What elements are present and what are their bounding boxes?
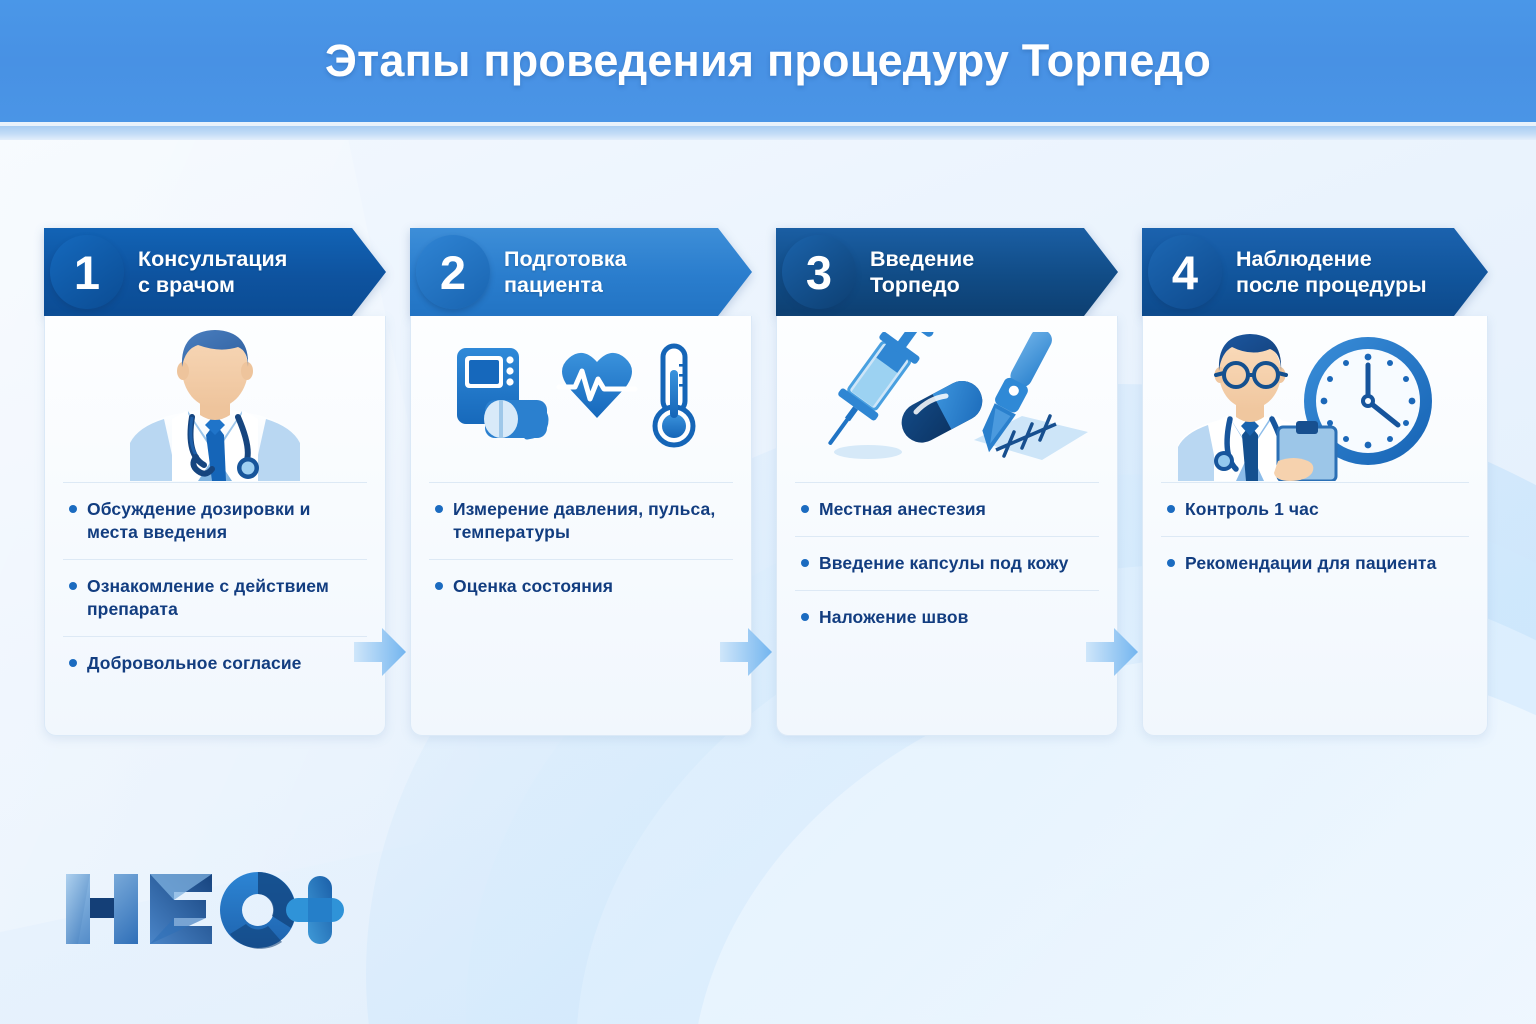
bullet-text: Наложение швов: [819, 606, 969, 629]
list-item: Измерение давления, пульса, температуры: [429, 482, 733, 559]
bullet-dot-icon: [1167, 559, 1175, 567]
vitals-monitor-heart-thermometer-icon: [445, 342, 717, 462]
arrow-step2-to-step3: [718, 626, 774, 678]
step-card-2[interactable]: 2 Подготовка пациента: [410, 228, 752, 736]
step-3-title-line1: Введение: [870, 247, 974, 271]
step-3-bullets: Местная анестезия Введение капсулы под к…: [777, 482, 1117, 644]
bullet-text: Измерение давления, пульса, температуры: [453, 498, 729, 544]
step-2-title-line1: Подготовка: [504, 247, 627, 271]
bullet-dot-icon: [435, 505, 443, 513]
step-2-body: Измерение давления, пульса, температуры …: [410, 316, 752, 736]
bullet-dot-icon: [435, 582, 443, 590]
bullet-text: Введение капсулы под кожу: [819, 552, 1069, 575]
list-item: Введение капсулы под кожу: [795, 536, 1099, 590]
list-item: Контроль 1 час: [1161, 482, 1469, 536]
step-4-title-line2: после процедуры: [1236, 272, 1427, 298]
list-item: Добровольное согласие: [63, 636, 367, 690]
bullet-text: Местная анестезия: [819, 498, 986, 521]
list-item: Обсуждение дозировки и места введения: [63, 482, 367, 559]
step-card-3[interactable]: 3 Введение Торпедо: [776, 228, 1118, 736]
list-item: Рекомендации для пациента: [1161, 536, 1469, 590]
list-item: Ознакомление с действием препарата: [63, 559, 367, 636]
doctor-stethoscope-icon: [100, 323, 330, 481]
doctor-clipboard-clock-icon: [1172, 323, 1458, 481]
step-1-title: Консультация с врачом: [138, 246, 287, 298]
arrow-step3-to-step4: [1084, 626, 1140, 678]
step-2-bullets: Измерение давления, пульса, температуры …: [411, 482, 751, 613]
page-title: Этапы проведения процедуру Торпедо: [325, 35, 1211, 87]
list-item: Оценка состояния: [429, 559, 733, 613]
step-2-banner: 2 Подготовка пациента: [410, 228, 752, 316]
bullet-dot-icon: [801, 559, 809, 567]
bullet-text: Оценка состояния: [453, 575, 613, 598]
step-4-bullets: Контроль 1 час Рекомендации для пациента: [1143, 482, 1487, 590]
brand-logo[interactable]: [62, 868, 344, 955]
step-card-4[interactable]: 4 Наблюдение после процедуры: [1142, 228, 1488, 736]
step-1-banner: 1 Консультация с врачом: [44, 228, 386, 316]
arrow-step1-to-step2: [352, 626, 408, 678]
bullet-dot-icon: [801, 613, 809, 621]
step-1-title-line2: с врачом: [138, 272, 287, 298]
step-2-illustration: [411, 316, 751, 482]
bullet-dot-icon: [69, 659, 77, 667]
step-3-body: Местная анестезия Введение капсулы под к…: [776, 316, 1118, 736]
step-3-banner: 3 Введение Торпедо: [776, 228, 1118, 316]
arrow-right-icon: [1084, 626, 1140, 678]
bullet-text: Контроль 1 час: [1185, 498, 1319, 521]
neo-plus-logo-icon: [62, 868, 344, 950]
bullet-text: Ознакомление с действием препарата: [87, 575, 363, 621]
steps-row: 1 Консультация с врачом: [0, 228, 1536, 748]
step-4-number-badge: 4: [1148, 235, 1222, 309]
step-4-illustration: [1143, 316, 1487, 482]
step-3-number-badge: 3: [782, 235, 856, 309]
step-4-banner: 4 Наблюдение после процедуры: [1142, 228, 1488, 316]
step-4-title-line1: Наблюдение: [1236, 247, 1372, 271]
list-item: Наложение швов: [795, 590, 1099, 644]
syringe-capsule-scalpel-sutures-icon: [806, 332, 1088, 472]
step-1-illustration: [45, 316, 385, 482]
step-2-title: Подготовка пациента: [504, 246, 627, 298]
bullet-text: Обсуждение дозировки и места введения: [87, 498, 363, 544]
header-divider-blue: [0, 126, 1536, 140]
step-2-title-line2: пациента: [504, 272, 627, 298]
bullet-dot-icon: [69, 505, 77, 513]
step-3-illustration: [777, 316, 1117, 482]
step-card-1[interactable]: 1 Консультация с врачом: [44, 228, 386, 736]
step-4-title: Наблюдение после процедуры: [1236, 246, 1427, 298]
arrow-right-icon: [352, 626, 408, 678]
step-1-body: Обсуждение дозировки и места введения Оз…: [44, 316, 386, 736]
step-3-title: Введение Торпедо: [870, 246, 974, 298]
list-item: Местная анестезия: [795, 482, 1099, 536]
bullet-text: Добровольное согласие: [87, 652, 302, 675]
bullet-dot-icon: [1167, 505, 1175, 513]
infographic-canvas: Этапы проведения процедуру Торпедо 1 Кон…: [0, 0, 1536, 1024]
step-4-body: Контроль 1 час Рекомендации для пациента: [1142, 316, 1488, 736]
step-1-number-badge: 1: [50, 235, 124, 309]
page-header: Этапы проведения процедуру Торпедо: [0, 0, 1536, 122]
step-3-title-line2: Торпедо: [870, 272, 974, 298]
step-1-bullets: Обсуждение дозировки и места введения Оз…: [45, 482, 385, 690]
step-1-title-line1: Консультация: [138, 247, 287, 271]
bullet-dot-icon: [801, 505, 809, 513]
bullet-text: Рекомендации для пациента: [1185, 552, 1436, 575]
step-2-number-badge: 2: [416, 235, 490, 309]
arrow-right-icon: [718, 626, 774, 678]
bullet-dot-icon: [69, 582, 77, 590]
